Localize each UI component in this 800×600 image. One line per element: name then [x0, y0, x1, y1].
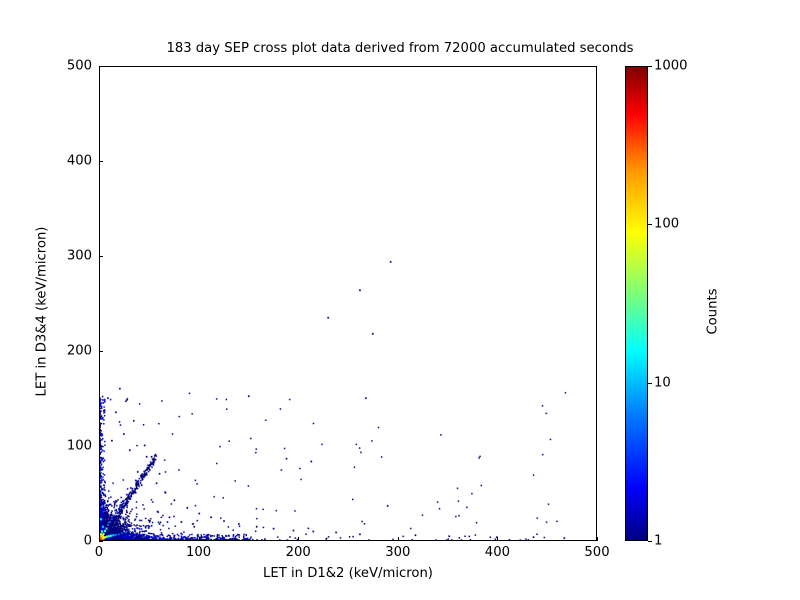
chart-title-line-1: 183 day SEP cross plot data derived from… [0, 41, 800, 58]
colorbar-label: Counts [706, 226, 721, 396]
scatter-density-canvas [100, 67, 596, 540]
x-tick-label: 100 [186, 545, 211, 560]
colorbar-tick-mark [648, 66, 652, 67]
x-tick-label: 200 [286, 545, 311, 560]
x-tick-label: 500 [584, 545, 609, 560]
y-tick-mark [99, 541, 103, 542]
x-tick-label: 300 [385, 545, 410, 560]
y-tick-mark [99, 66, 103, 67]
figure-canvas: 183 day SEP cross plot data derived from… [0, 0, 800, 600]
colorbar-tick-label: 10 [654, 375, 671, 390]
y-tick-label: 100 [67, 439, 92, 454]
y-tick-mark [99, 446, 103, 447]
y-tick-label: 500 [67, 59, 92, 74]
x-tick-mark [597, 537, 598, 541]
x-tick-label: 0 [95, 545, 103, 560]
y-axis-label: LET in D3&4 (keV/micron) [35, 181, 50, 441]
colorbar [625, 66, 648, 541]
y-tick-mark [99, 256, 103, 257]
y-tick-label: 300 [67, 249, 92, 264]
y-tick-label: 0 [84, 534, 92, 549]
colorbar-tick-mark [648, 224, 652, 225]
y-tick-label: 200 [67, 344, 92, 359]
x-tick-mark [199, 537, 200, 541]
x-tick-mark [398, 537, 399, 541]
colorbar-tick-label: 1 [654, 534, 662, 549]
x-tick-mark [298, 537, 299, 541]
x-tick-mark [497, 537, 498, 541]
y-tick-mark [99, 161, 103, 162]
x-axis-label: LET in D1&2 (keV/micron) [99, 566, 597, 581]
colorbar-tick-label: 100 [654, 217, 679, 232]
colorbar-tick-label: 1000 [654, 59, 688, 74]
x-tick-label: 400 [485, 545, 510, 560]
y-tick-label: 400 [67, 154, 92, 169]
y-tick-mark [99, 351, 103, 352]
colorbar-tick-mark [648, 383, 652, 384]
colorbar-tick-mark [648, 541, 652, 542]
plot-area [99, 66, 597, 541]
